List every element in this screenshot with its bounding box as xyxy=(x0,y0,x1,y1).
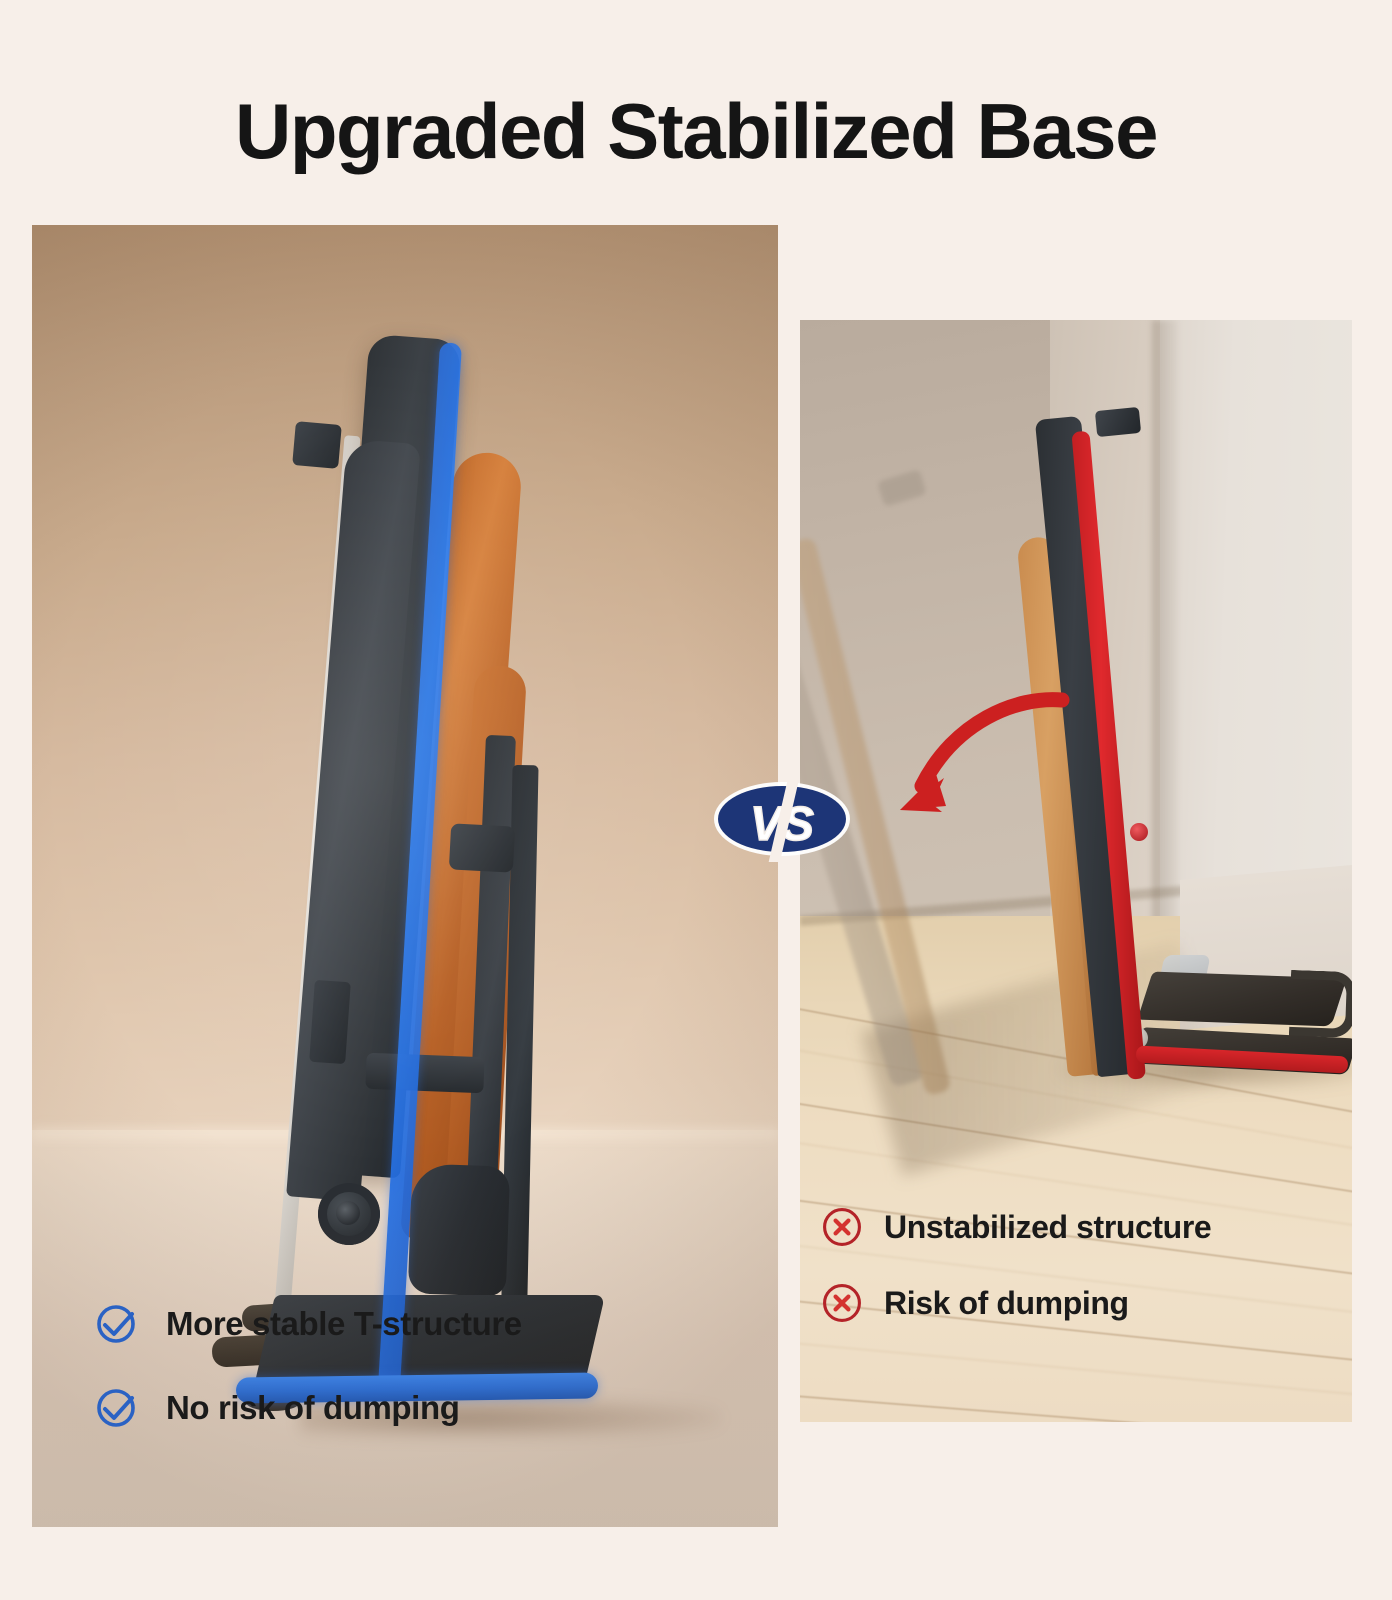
treadmill-wheel-hub xyxy=(336,1201,360,1225)
treadmill-red-screw xyxy=(1130,823,1148,841)
right-comparison-panel: Unstabilized structure Risk of dumping xyxy=(800,320,1352,1422)
check-circle-icon xyxy=(92,1384,140,1432)
check-circle-icon xyxy=(92,1300,140,1348)
unstable-treadmill-illustration xyxy=(1040,415,1340,1115)
list-item-label: Risk of dumping xyxy=(884,1285,1129,1322)
list-item: Risk of dumping xyxy=(820,1281,1340,1325)
stable-treadmill-illustration xyxy=(182,335,602,1345)
treadmill-top-cap xyxy=(1095,407,1141,437)
list-item: More stable T-structure xyxy=(92,1300,732,1348)
list-item: No risk of dumping xyxy=(92,1384,732,1432)
treadmill-strap-clamp xyxy=(365,1053,484,1094)
list-item-label: No risk of dumping xyxy=(166,1389,459,1427)
treadmill-motor-hood xyxy=(408,1163,510,1296)
floor-plank-seam xyxy=(800,1386,1352,1422)
negative-feature-list: Unstabilized structure Risk of dumping xyxy=(820,1205,1340,1357)
list-item: Unstabilized structure xyxy=(820,1205,1340,1249)
treadmill-base-hook xyxy=(1289,970,1352,1038)
treadmill-side-clamp xyxy=(309,980,351,1064)
page-title: Upgraded Stabilized Base xyxy=(0,86,1392,177)
treadmill-folding-joint xyxy=(449,823,515,872)
versus-badge: VS xyxy=(712,776,852,862)
x-circle-icon xyxy=(820,1281,864,1325)
positive-feature-list: More stable T-structure No risk of dumpi… xyxy=(92,1300,732,1468)
list-item-label: More stable T-structure xyxy=(166,1305,522,1343)
x-circle-icon xyxy=(820,1205,864,1249)
treadmill-top-cap xyxy=(292,421,342,469)
list-item-label: Unstabilized structure xyxy=(884,1209,1211,1246)
curved-down-left-arrow-icon xyxy=(866,682,1076,832)
